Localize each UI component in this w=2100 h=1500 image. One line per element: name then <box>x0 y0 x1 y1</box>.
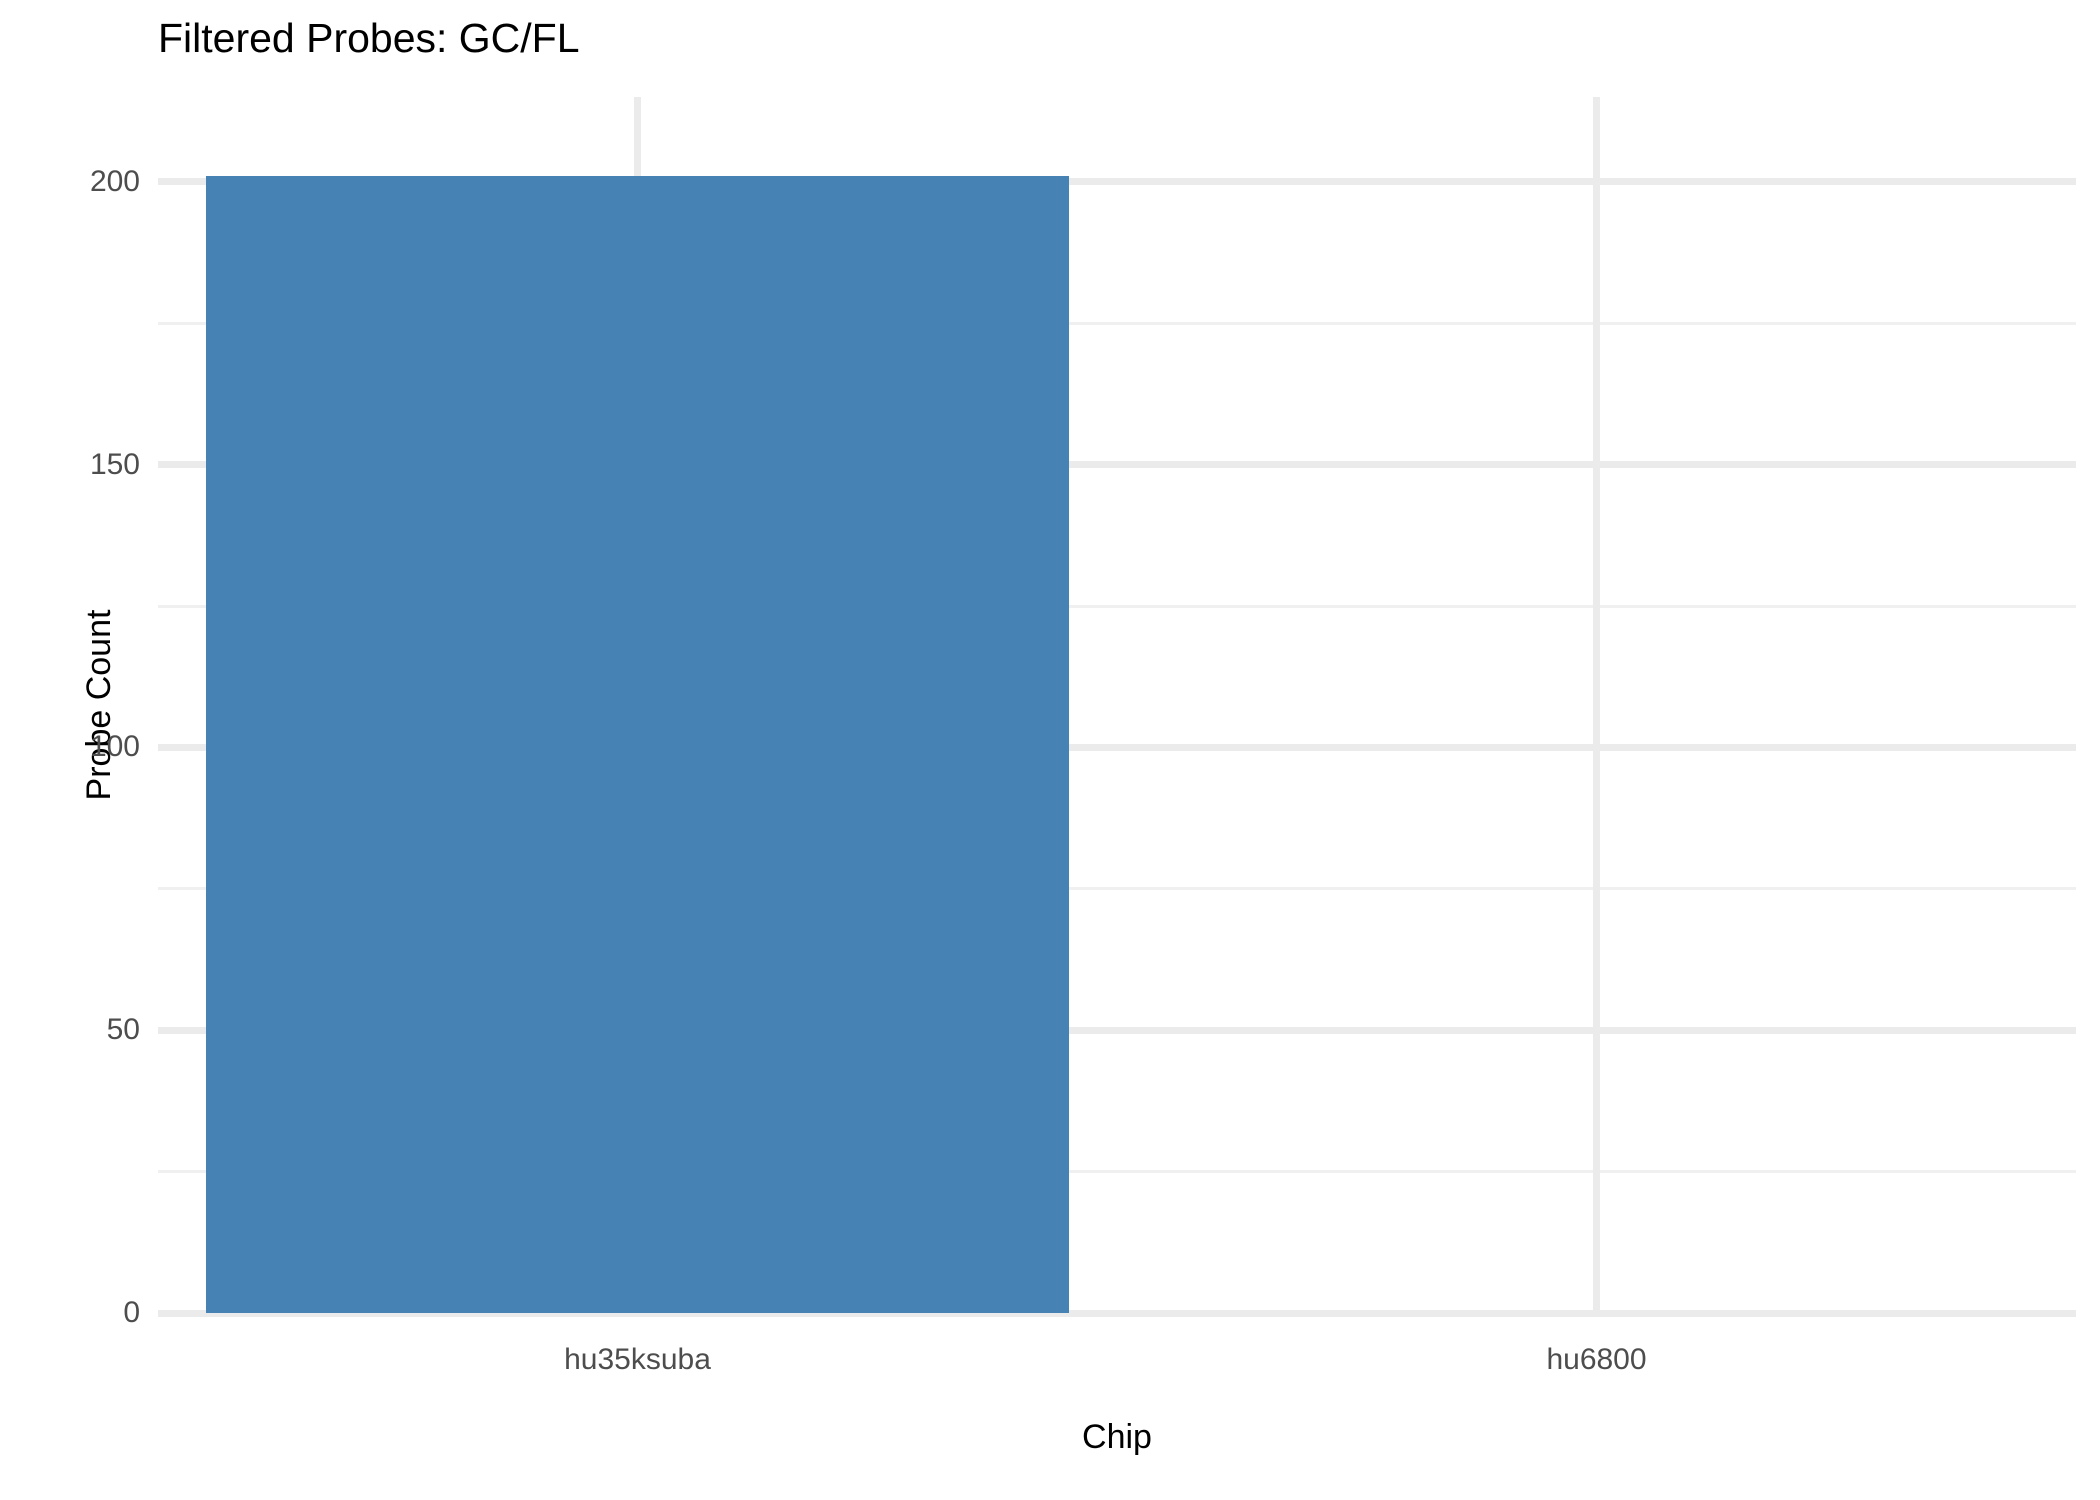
y-tick-label: 200 <box>90 165 140 199</box>
x-tick-label-hu35ksuba: hu35ksuba <box>564 1343 711 1377</box>
y-axis-tick-labels: 050100150200 <box>0 97 140 1313</box>
y-tick-label: 0 <box>123 1296 140 1330</box>
y-tick-label: 150 <box>90 448 140 482</box>
x-axis-title: Chip <box>158 1418 2076 1457</box>
y-tick-label: 50 <box>107 1013 140 1047</box>
plot-panel <box>158 97 2076 1313</box>
gridline-vertical-major <box>1593 97 1600 1313</box>
x-axis-tick-labels: hu35ksubahu6800 <box>158 1313 2076 1403</box>
bar-hu35ksuba[interactable] <box>206 176 1069 1313</box>
chart-canvas: Filtered Probes: GC/FL Probe Count 05010… <box>0 0 2100 1500</box>
chart-title: Filtered Probes: GC/FL <box>158 14 580 62</box>
y-tick-label: 100 <box>90 730 140 764</box>
x-tick-label-hu6800: hu6800 <box>1546 1343 1646 1377</box>
